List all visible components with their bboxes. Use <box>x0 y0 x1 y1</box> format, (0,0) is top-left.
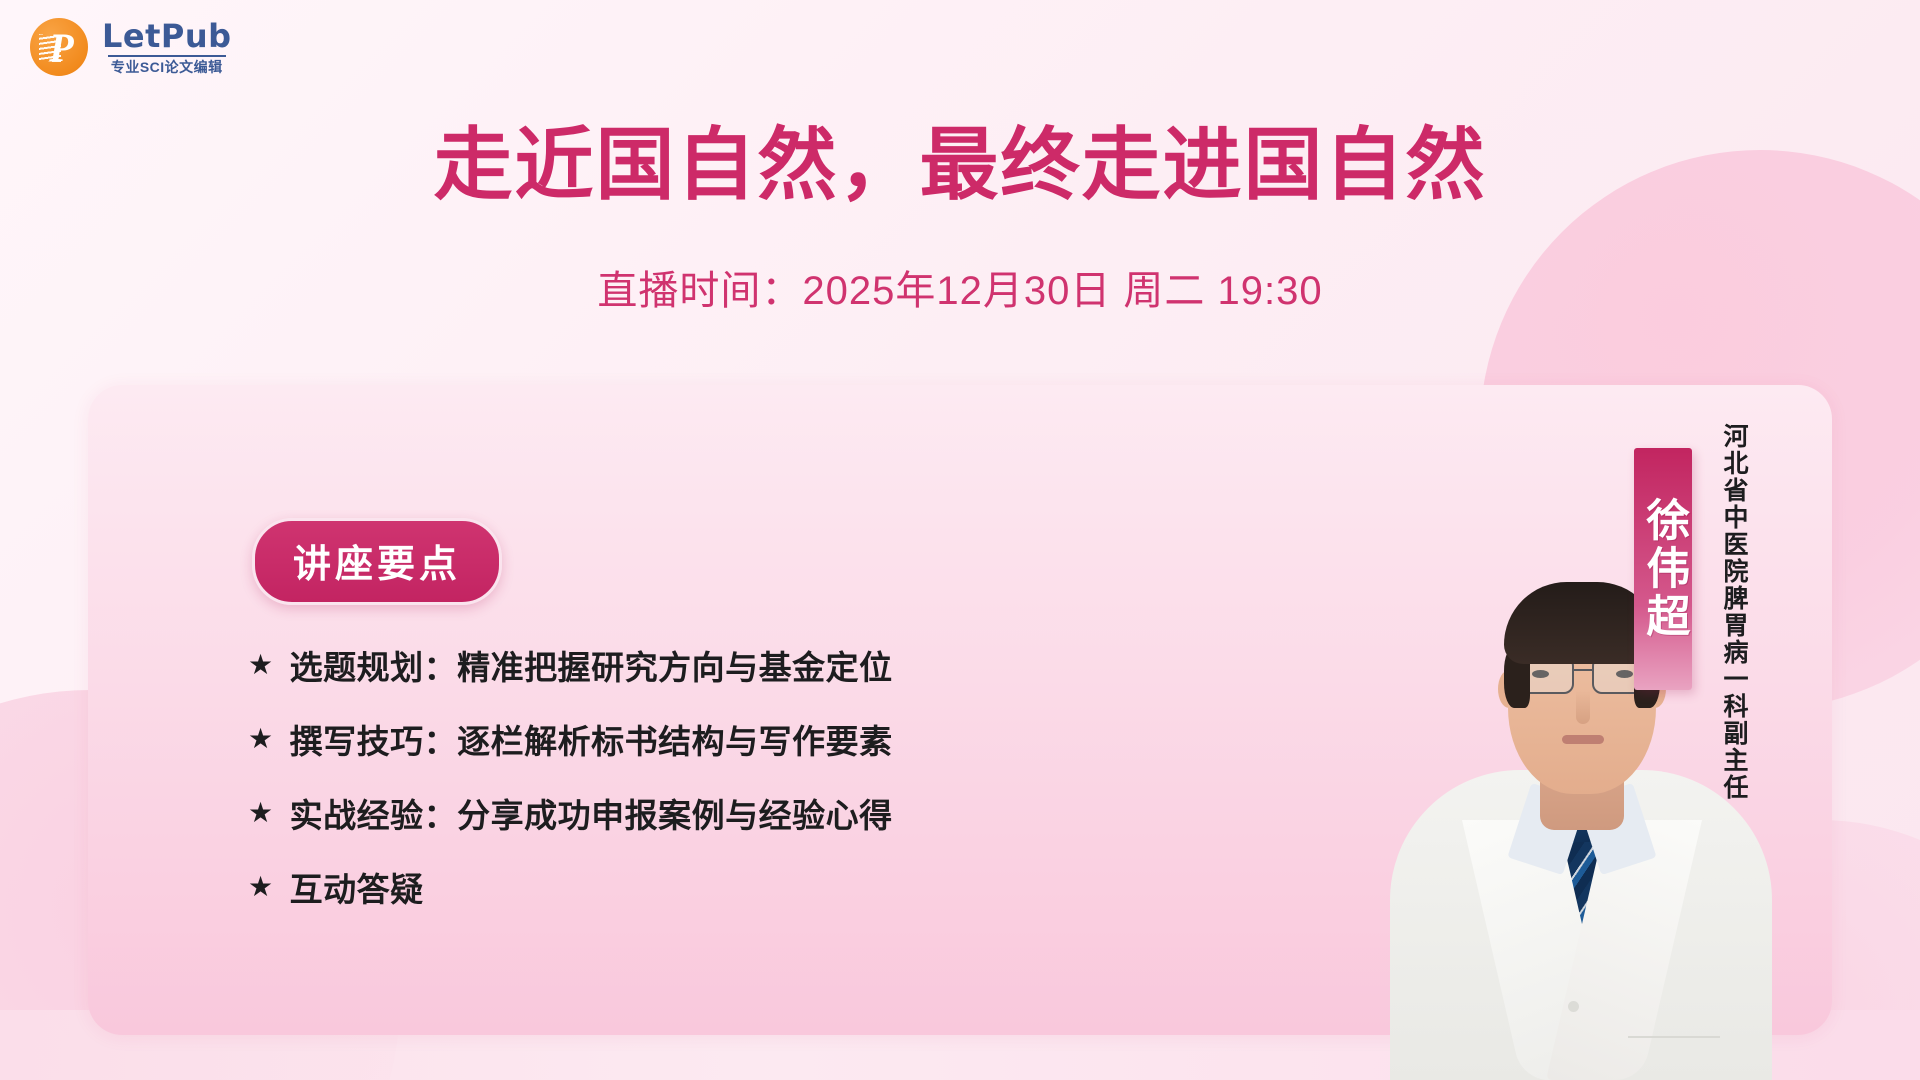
coat-pocket <box>1628 1036 1720 1038</box>
star-icon: ★ <box>248 799 274 827</box>
logo-tagline: 专业SCI论文编辑 <box>111 60 223 74</box>
letter-p-glyph: P <box>30 18 88 76</box>
webinar-poster: P LetPub 专业SCI论文编辑 走近国自然，最终走进国自然 直播时间：20… <box>0 0 1920 1080</box>
logo-text-group: LetPub 专业SCI论文编辑 <box>102 20 232 74</box>
list-item-text: 选题规划：精准把握研究方向与基金定位 <box>290 641 893 689</box>
logo-divider <box>108 55 226 57</box>
speaker-title: 河北省中医院脾胃病一科副主任 <box>1718 423 1750 823</box>
broadcast-time: 直播时间：2025年12月30日 周二 19:30 <box>0 258 1920 316</box>
star-icon: ★ <box>248 873 274 901</box>
mouth <box>1562 735 1604 744</box>
logo-wordmark: LetPub <box>102 20 232 52</box>
star-icon: ★ <box>248 651 274 679</box>
nose <box>1576 690 1590 724</box>
list-item: ★ 撰写技巧：逐栏解析标书结构与写作要素 <box>248 702 1148 776</box>
key-points-list: ★ 选题规划：精准把握研究方向与基金定位 ★ 撰写技巧：逐栏解析标书结构与写作要… <box>248 628 1148 924</box>
coat-button <box>1568 1001 1579 1012</box>
list-item: ★ 选题规划：精准把握研究方向与基金定位 <box>248 628 1148 702</box>
letpub-logo[interactable]: P LetPub 专业SCI论文编辑 <box>30 18 232 76</box>
list-item-text: 实战经验：分享成功申报案例与经验心得 <box>290 789 893 837</box>
list-item-text: 互动答疑 <box>290 863 424 911</box>
speaker-name-plaque: 徐伟超 <box>1634 448 1692 690</box>
list-item: ★ 互动答疑 <box>248 850 1148 924</box>
speaker-block: 徐伟超 河北省中医院脾胃病一科副主任 <box>1250 385 1770 1080</box>
list-item-text: 撰写技巧：逐栏解析标书结构与写作要素 <box>290 715 893 763</box>
speaker-name: 徐伟超 <box>1640 497 1687 641</box>
letpub-p-mark-icon: P <box>30 18 88 76</box>
star-icon: ★ <box>248 725 274 753</box>
list-item: ★ 实战经验：分享成功申报案例与经验心得 <box>248 776 1148 850</box>
poster-headline: 走近国自然，最终走进国自然 <box>0 100 1920 215</box>
key-points-badge: 讲座要点 <box>252 518 502 605</box>
glasses-bridge <box>1572 669 1594 671</box>
